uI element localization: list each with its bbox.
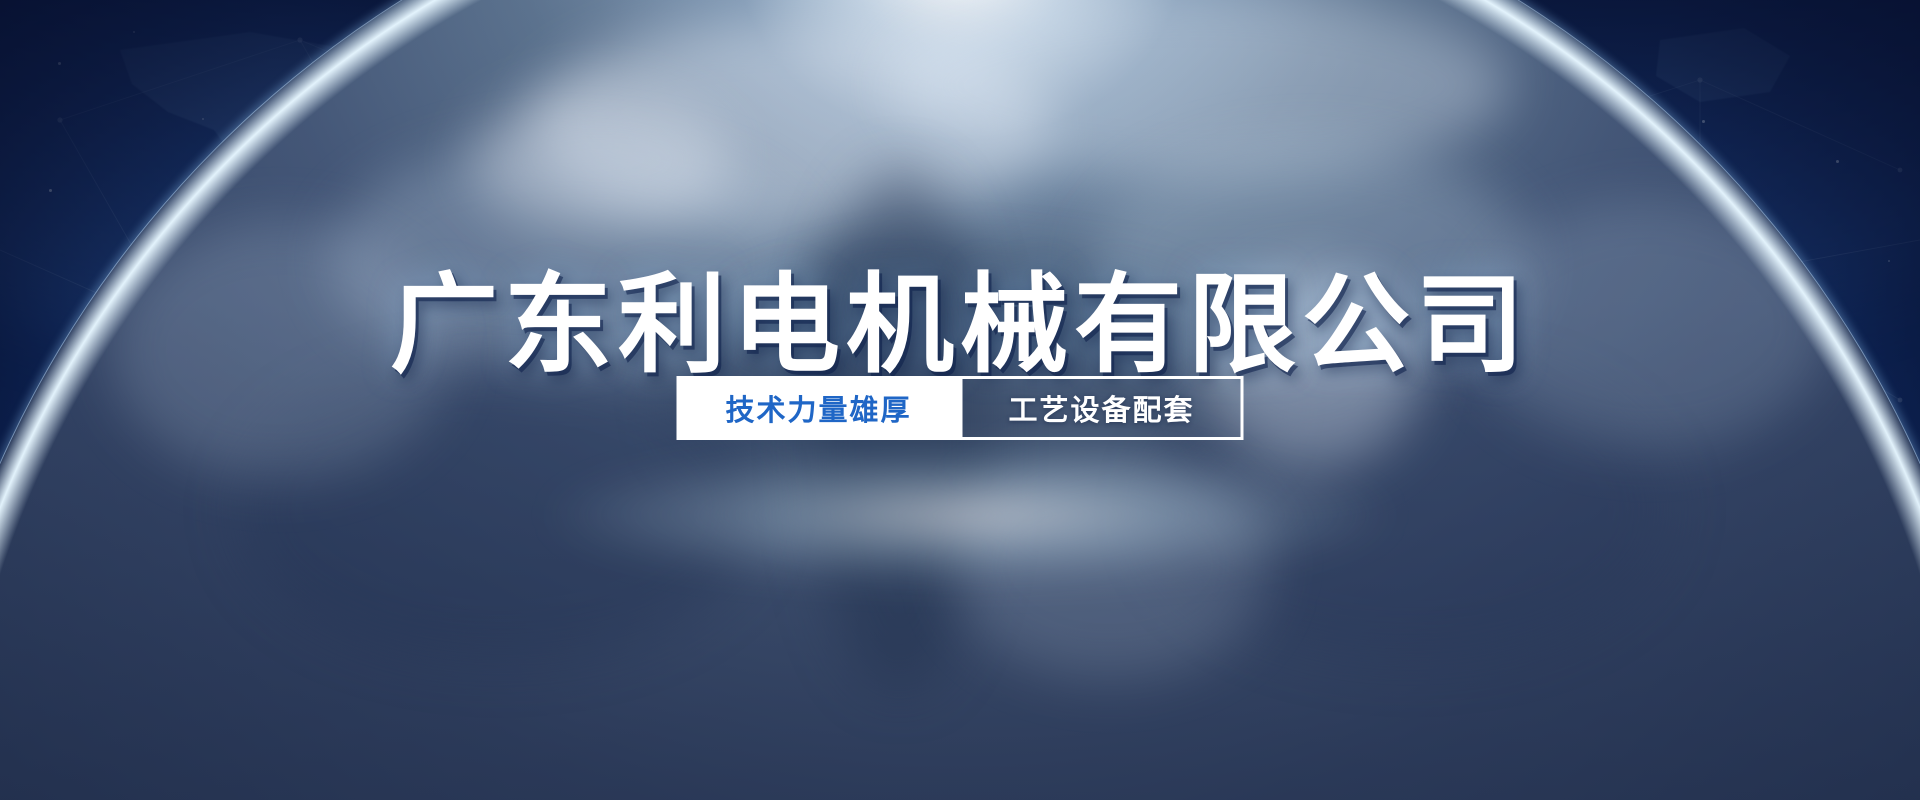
tagline-badge-secondary: 工艺设备配套 [960, 376, 1244, 440]
tagline-badge-primary: 技术力量雄厚 [677, 376, 961, 440]
banner-hero: 广东利电机械有限公司 技术力量雄厚 工艺设备配套 [0, 0, 1920, 800]
banner-content: 广东利电机械有限公司 技术力量雄厚 工艺设备配套 [0, 0, 1920, 800]
page-title: 广东利电机械有限公司 [0, 268, 1920, 385]
tagline-badges: 技术力量雄厚 工艺设备配套 [677, 376, 1244, 440]
